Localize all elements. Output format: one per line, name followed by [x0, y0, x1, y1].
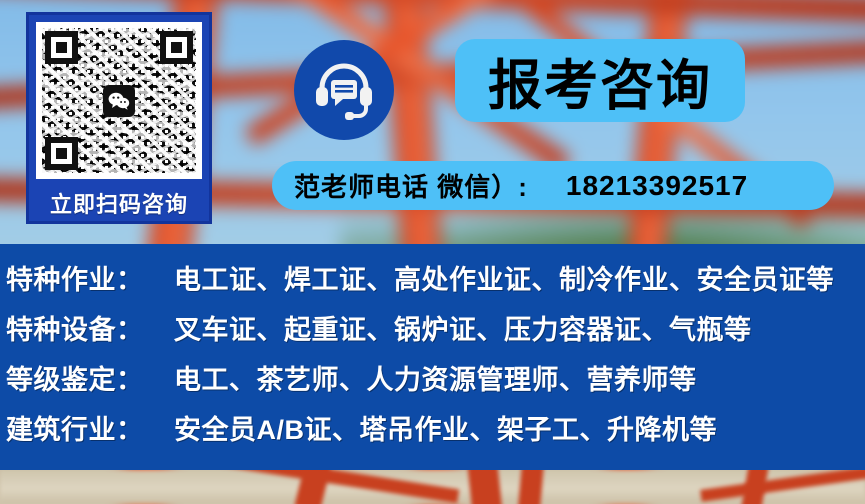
category-row: 特种作业： 电工证、焊工证、高处作业证、制冷作业、安全员证等: [6, 258, 865, 308]
qr-finder-bottom-left: [45, 137, 78, 170]
contact-phone-number[interactable]: 18213392517: [566, 170, 748, 202]
category-items: 电工证、焊工证、高处作业证、制冷作业、安全员证等: [174, 258, 834, 297]
promo-poster: 立即扫码咨询 报考咨询 范老师电话 微信）: 18213392517 特种作业：…: [0, 0, 865, 504]
qr-card-label: 立即扫码咨询: [36, 179, 202, 227]
contact-label: 范老师电话 微信）:: [294, 167, 528, 204]
category-name: 等级鉴定：: [6, 358, 174, 397]
category-items: 叉车证、起重证、锅炉证、压力容器证、气瓶等: [174, 308, 752, 347]
category-row: 等级鉴定： 电工、茶艺师、人力资源管理师、营养师等: [6, 358, 865, 408]
headset-support-icon: [294, 40, 394, 140]
contact-pill[interactable]: 范老师电话 微信）: 18213392517: [272, 161, 834, 210]
qr-code-icon[interactable]: [36, 22, 202, 179]
qr-card[interactable]: 立即扫码咨询: [26, 12, 212, 224]
category-items: 电工、茶艺师、人力资源管理师、营养师等: [174, 358, 697, 397]
category-list-panel: 特种作业： 电工证、焊工证、高处作业证、制冷作业、安全员证等 特种设备： 叉车证…: [0, 244, 865, 470]
category-row: 建筑行业： 安全员A/B证、塔吊作业、架子工、升降机等: [6, 408, 865, 458]
category-name: 建筑行业：: [6, 408, 174, 447]
wechat-icon: [103, 85, 135, 117]
bottom-photo-strip: [0, 470, 865, 504]
title-badge: 报考咨询: [455, 39, 745, 122]
category-name: 特种作业：: [6, 258, 174, 297]
qr-finder-top-right: [160, 31, 193, 64]
category-row: 特种设备： 叉车证、起重证、锅炉证、压力容器证、气瓶等: [6, 308, 865, 358]
category-name: 特种设备：: [6, 308, 174, 347]
category-items: 安全员A/B证、塔吊作业、架子工、升降机等: [174, 408, 717, 447]
qr-finder-top-left: [45, 31, 78, 64]
